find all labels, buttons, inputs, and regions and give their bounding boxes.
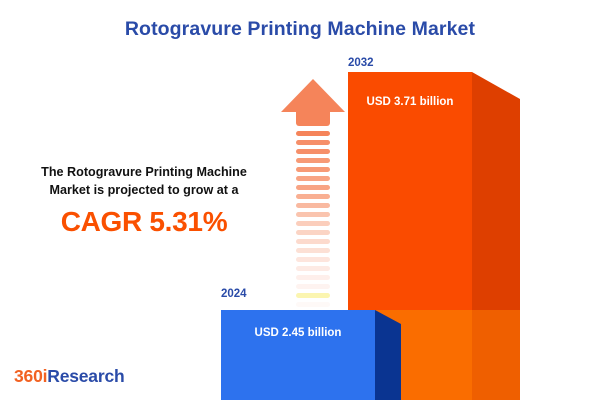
arrow-stripe-15	[296, 266, 330, 271]
narrative-line-2: Market is projected to grow at a	[8, 181, 280, 199]
cagr-value: CAGR 5.31%	[8, 206, 280, 238]
arrow-stripe-1	[296, 140, 330, 145]
arrow-stripe-11	[296, 230, 330, 235]
arrow-head-icon	[281, 79, 345, 112]
bar-2024-front-face[interactable]	[221, 310, 375, 400]
arrow-stripe-19	[296, 302, 330, 307]
brand-logo[interactable]: 360iResearch	[14, 366, 124, 387]
bar-2032-side-face-lower	[472, 310, 520, 400]
arrow-stripe-12	[296, 239, 330, 244]
arrow-stripe-10	[296, 221, 330, 226]
bar-2024-side-face	[375, 310, 401, 400]
infographic-canvas: Rotogravure Printing Machine Market The …	[0, 0, 600, 400]
arrow-stripe-17	[296, 284, 330, 289]
arrow-stripe-5	[296, 176, 330, 181]
narrative-block: The Rotogravure Printing Machine Market …	[8, 163, 280, 238]
narrative-line-1: The Rotogravure Printing Machine	[8, 163, 280, 181]
arrow-stripe-6	[296, 185, 330, 190]
arrow-stripe-18	[296, 293, 330, 298]
bar-label-year-2032: 2032	[348, 57, 374, 69]
arrow-stripe-16	[296, 275, 330, 280]
arrow-stripe-13	[296, 248, 330, 253]
bar-2032-value-label: USD 3.71 billion	[348, 96, 472, 108]
arrow-stripe-9	[296, 212, 330, 217]
growth-arrow-icon	[281, 79, 345, 301]
arrow-stripe-2	[296, 149, 330, 154]
bar-2024-value-label: USD 2.45 billion	[221, 327, 375, 339]
page-title: Rotogravure Printing Machine Market	[0, 18, 600, 41]
arrow-stripe-3	[296, 158, 330, 163]
arrow-stripe-7	[296, 194, 330, 199]
arrow-stripe-8	[296, 203, 330, 208]
arrow-stripe-14	[296, 257, 330, 262]
logo-suffix: Research	[47, 366, 124, 386]
arrow-stripe-4	[296, 167, 330, 172]
arrow-neck-icon	[296, 112, 330, 126]
bar-label-year-2024: 2024	[221, 288, 247, 300]
bar-2032-side-face-upper	[472, 72, 520, 310]
arrow-stripe-0	[296, 131, 330, 136]
logo-prefix: 360i	[14, 366, 47, 386]
